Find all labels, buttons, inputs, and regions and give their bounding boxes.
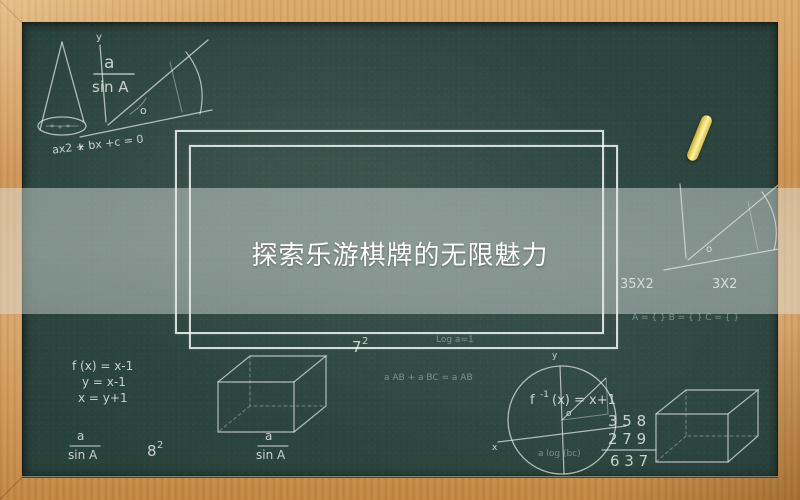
fraction-a-over-sinA-topleft: a sin A: [92, 53, 134, 96]
svg-text:a: a: [265, 429, 272, 443]
cube-diagram-right: [656, 390, 758, 462]
inverse-function: f -1 (x) = x+1: [530, 390, 616, 408]
function-equations: f (x) = x-1 y = x-1 x = y+1: [72, 359, 133, 405]
svg-text:x = y+1: x = y+1: [78, 391, 128, 405]
cone-diagram: [38, 42, 86, 135]
expr-3x2: 3X2: [712, 277, 737, 292]
svg-text:y: y: [552, 351, 558, 361]
vector-identity: a AB + a BC = a AB: [384, 373, 473, 383]
fraction-a-over-sinA-bottomleft: a sin A: [68, 429, 100, 462]
banner-title: 探索乐游棋牌的无限魅力: [0, 235, 800, 272]
quadratic-equation: ax2 + bx +c = 0: [51, 133, 144, 157]
svg-text:sin A: sin A: [68, 448, 98, 462]
expr-35x2: 35X2: [620, 277, 654, 292]
svg-text:sin A: sin A: [256, 448, 286, 462]
svg-text:o: o: [140, 104, 147, 117]
svg-text:x: x: [78, 142, 84, 153]
svg-text:f: f: [530, 393, 535, 408]
cube-diagram-center: [218, 356, 326, 432]
column-addition: 3 5 8 2 7 9 6 3 7: [602, 412, 656, 470]
svg-text:-1: -1: [540, 390, 549, 400]
svg-text:2: 2: [157, 440, 163, 451]
chalkboard-banner: a sin A ax2 + bx +c = 0 y x: [0, 0, 800, 500]
svg-text:o: o: [566, 409, 572, 419]
svg-text:2 7 9: 2 7 9: [608, 430, 646, 448]
svg-text:y = x-1: y = x-1: [82, 375, 126, 389]
svg-text:a: a: [104, 53, 114, 73]
svg-text:y: y: [96, 32, 102, 43]
log-rule: a log (bc): [538, 449, 581, 459]
svg-text:3 5 8: 3 5 8: [608, 412, 646, 430]
svg-text:x: x: [492, 443, 498, 453]
power-eight: 8 2: [147, 440, 163, 460]
svg-text:f (x) = x-1: f (x) = x-1: [72, 359, 133, 373]
svg-text:ax2 + bx +c = 0: ax2 + bx +c = 0: [51, 133, 144, 157]
fraction-a-over-sinA-bottommid: a sin A: [256, 429, 288, 462]
set-notation: A = { } B = { } C = { }: [632, 313, 739, 323]
svg-text:sin A: sin A: [92, 78, 129, 96]
chalk-ledge: [22, 476, 778, 478]
svg-text:6 3 7: 6 3 7: [610, 452, 648, 470]
frame-miter-top-left: [0, 0, 24, 25]
yellow-chalk-stick: [685, 114, 713, 163]
circle-axis-diagram: y x o: [492, 351, 626, 474]
frame-miter-bottom-left: [0, 475, 24, 500]
svg-text:8: 8: [147, 442, 157, 460]
svg-text:(x) = x+1: (x) = x+1: [552, 393, 616, 408]
svg-text:a: a: [77, 429, 84, 443]
